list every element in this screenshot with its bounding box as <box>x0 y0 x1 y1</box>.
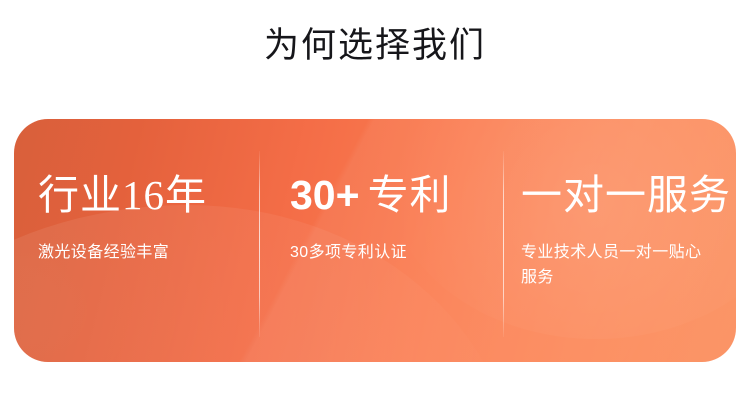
page-root: 为何选择我们 行业16年 激光设备经验丰富 30+专利 30多项专利认证 一对一… <box>0 0 750 402</box>
column-divider <box>259 151 260 337</box>
feature-subtitle: 激光设备经验丰富 <box>38 240 245 265</box>
feature-subtitle: 专业技术人员一对一贴心服务 <box>521 240 717 290</box>
feature-heading-number: 30+ <box>290 172 360 218</box>
feature-heading-text: 行业16年 <box>38 172 207 218</box>
feature-heading: 一对一服务 <box>521 171 724 219</box>
feature-heading: 行业16年 <box>38 171 245 219</box>
feature-subtitle: 30多项专利认证 <box>290 240 489 265</box>
feature-heading-text: 专利 <box>368 172 452 218</box>
feature-column-service: 一对一服务 专业技术人员一对一贴心服务 <box>503 119 736 362</box>
feature-column-patents: 30+专利 30多项专利认证 <box>259 119 503 362</box>
feature-heading: 30+专利 <box>290 171 489 219</box>
features-banner: 行业16年 激光设备经验丰富 30+专利 30多项专利认证 一对一服务 专业技术… <box>14 119 736 362</box>
column-divider <box>503 151 504 337</box>
page-title: 为何选择我们 <box>0 24 750 68</box>
feature-column-experience: 行业16年 激光设备经验丰富 <box>14 119 259 362</box>
feature-columns: 行业16年 激光设备经验丰富 30+专利 30多项专利认证 一对一服务 专业技术… <box>14 119 736 362</box>
feature-heading-text: 一对一服务 <box>521 172 731 218</box>
